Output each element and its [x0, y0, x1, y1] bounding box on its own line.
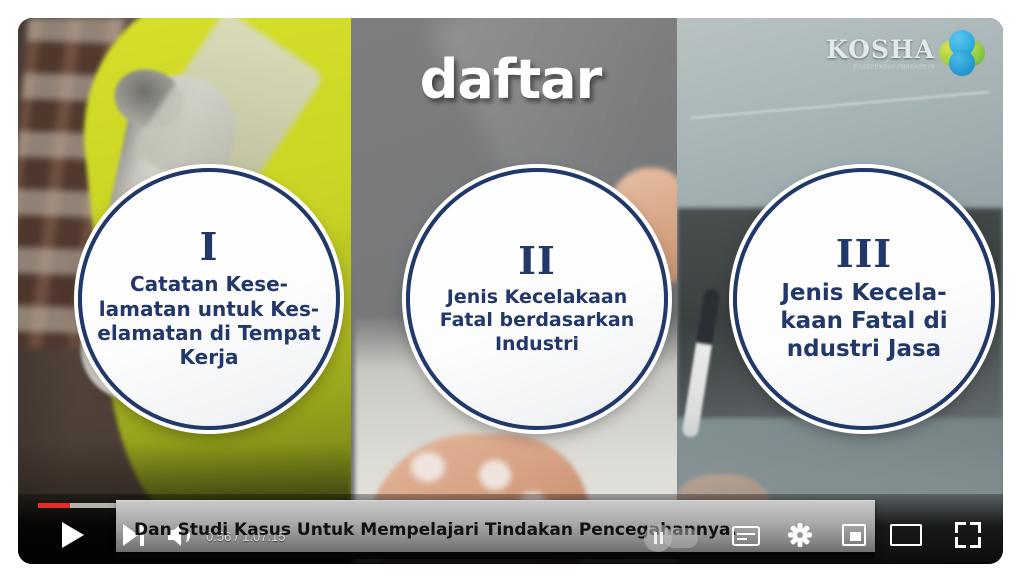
agenda-circle-3: III Jenis Kecela- kaan Fatal di ndustri … — [733, 168, 995, 430]
kosha-clover-icon — [939, 30, 985, 76]
kosha-name: KOSHA — [826, 37, 935, 62]
gear-icon — [787, 522, 813, 548]
fullscreen-button[interactable] — [955, 522, 981, 548]
player-controls[interactable]: 0:56 / 1:07:15 Dan Studi Kasus Untuk Mem… — [18, 494, 1003, 564]
theater-mode-button[interactable] — [889, 523, 923, 547]
pause-icon — [644, 524, 672, 552]
fullscreen-icon-corner — [955, 537, 966, 548]
agenda-text-2: Jenis Kecelakaan Fatal berdasarkan Indus… — [430, 286, 644, 356]
miniplayer-icon — [842, 524, 866, 546]
miniplayer-button[interactable] — [839, 523, 869, 547]
fullscreen-icon-corner — [955, 522, 966, 533]
kosha-logo: KOSHA 한국산업안전보건공단 산업안전보건연구원 — [826, 30, 985, 76]
kosha-subtitle: 한국산업안전보건공단 산업안전보건연구원 — [853, 65, 935, 69]
autoplay-toggle[interactable] — [644, 524, 700, 552]
agenda-text-3: Jenis Kecela- kaan Fatal di ndustri Jasa — [770, 279, 957, 363]
agenda-circle-2: II Jenis Kecelakaan Fatal berdasarkan In… — [406, 168, 668, 430]
agenda-number-3: III — [836, 235, 892, 273]
fingernail — [411, 452, 445, 482]
theater-icon — [890, 524, 922, 546]
settings-button[interactable] — [787, 522, 813, 548]
progress-played — [38, 503, 70, 508]
fullscreen-icon-corner — [970, 537, 981, 548]
kosha-wordmark: KOSHA 한국산업안전보건공단 산업안전보건연구원 — [826, 37, 935, 69]
fullscreen-icon-corner — [970, 522, 981, 533]
captions-button[interactable] — [731, 525, 761, 547]
agenda-number-2: II — [518, 242, 556, 280]
video-player[interactable]: daftar KOSHA 한국산업안전보건공단 산업안전보건연구원 I Cata… — [18, 18, 1003, 564]
agenda-circle-1: I Catatan Kese- lamatan untuk Kes- elama… — [78, 168, 340, 430]
agenda-text-1: Catatan Kese- lamatan untuk Kes- elamata… — [87, 272, 330, 370]
agenda-number-1: I — [200, 228, 219, 266]
subtitles-icon — [732, 526, 760, 546]
fingernail — [479, 460, 511, 490]
